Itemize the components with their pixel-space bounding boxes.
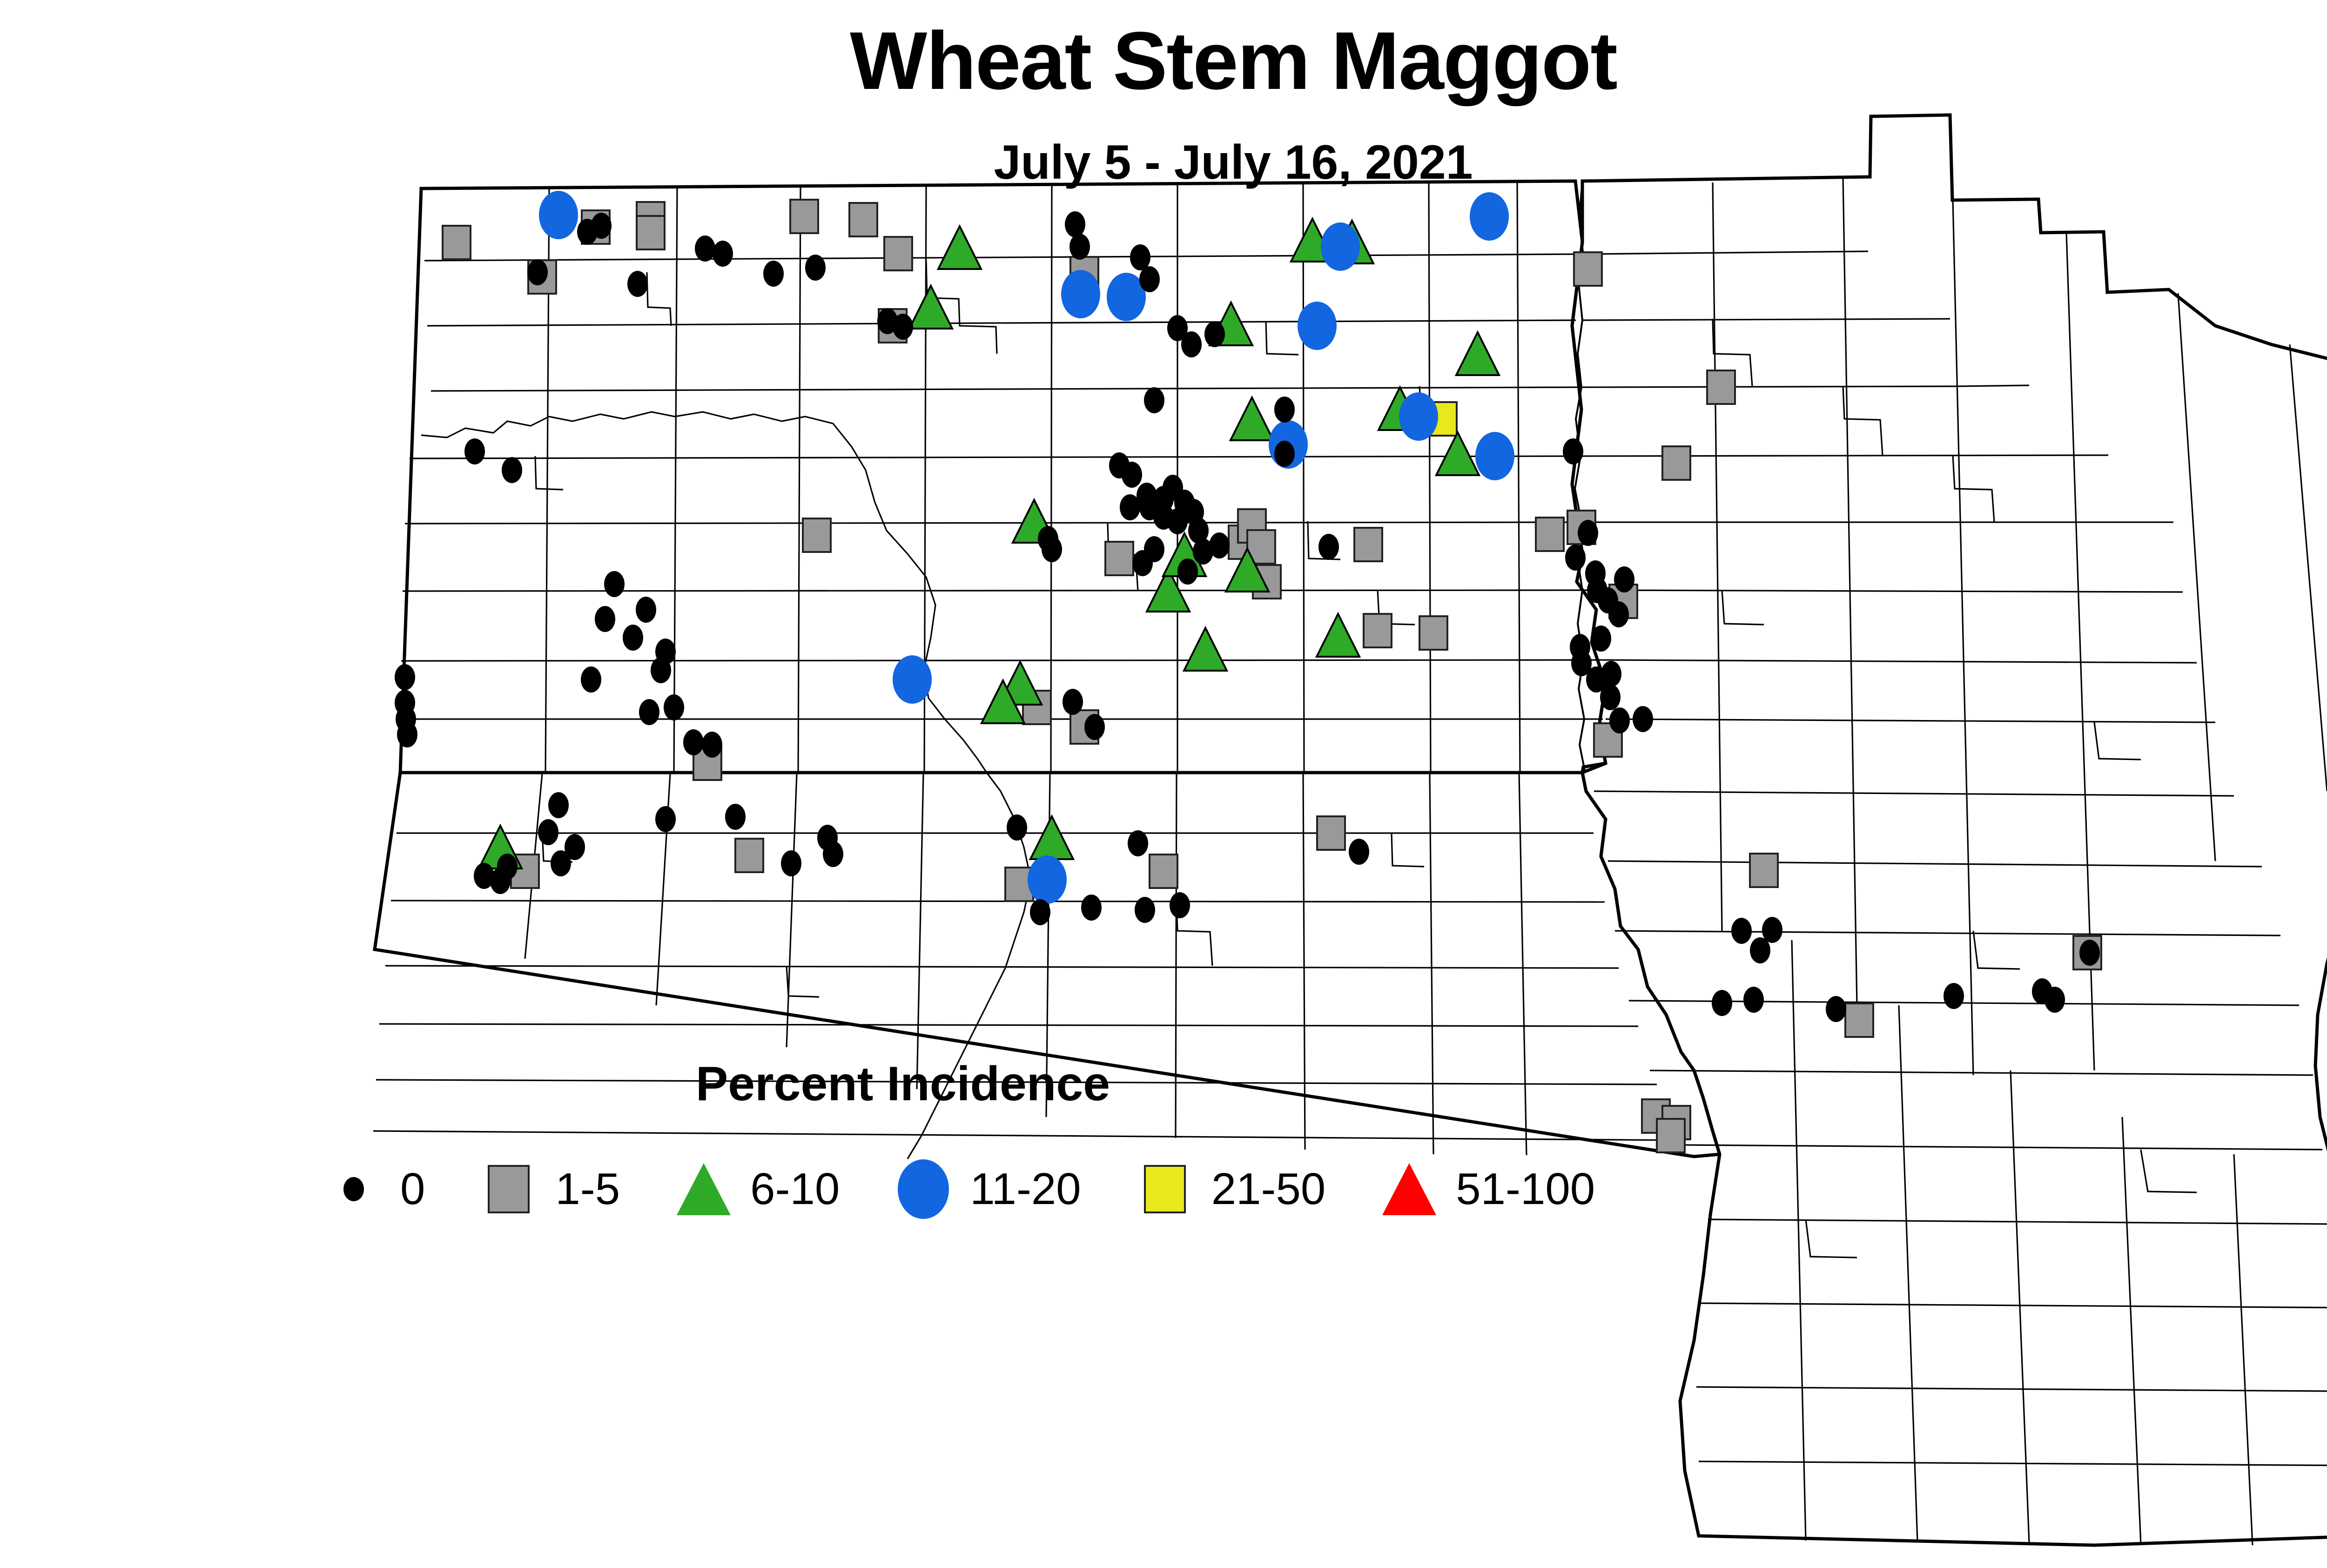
marker-incidence-0 [702, 732, 722, 758]
marker-incidence-0 [763, 261, 784, 287]
marker-incidence-0 [1122, 462, 1142, 488]
marker-incidence-0 [1274, 397, 1295, 423]
marker-incidence-0 [805, 255, 826, 281]
marker-incidence-1-5 [637, 216, 665, 249]
legend-item-11-20[interactable]: 11-20 [895, 1161, 1081, 1217]
legend-label-1-5: 1-5 [555, 1164, 620, 1215]
legend-item-0[interactable]: 0 [326, 1161, 425, 1217]
legend-label-21-50: 21-50 [1211, 1164, 1326, 1215]
marker-incidence-0 [527, 259, 548, 285]
page-title: Wheat Stem Maggot [0, 14, 2327, 108]
marker-incidence-0 [538, 819, 558, 845]
marker-incidence-0 [1128, 830, 1148, 856]
marker-incidence-1-5 [1662, 446, 1690, 480]
marker-incidence-1-5 [803, 518, 831, 552]
marker-incidence-0 [1135, 897, 1155, 923]
marker-incidence-0 [623, 625, 643, 651]
marker-incidence-0 [893, 314, 913, 340]
marker-incidence-0 [1750, 937, 1770, 963]
marker-incidence-0 [1181, 331, 1202, 357]
marker-incidence-0 [1170, 892, 1190, 918]
marker-incidence-0 [1069, 234, 1090, 260]
marker-incidence-1-5 [1845, 1003, 1873, 1037]
marker-incidence-0 [581, 666, 601, 693]
marker-incidence-1-5 [1150, 855, 1177, 888]
marker-incidence-11-20 [893, 655, 932, 704]
marker-incidence-0 [823, 841, 843, 867]
marker-incidence-0 [1608, 601, 1629, 627]
states-counties-map [0, 0, 2327, 1568]
marker-incidence-0 [1563, 438, 1583, 464]
legend-title: Percent Incidence [298, 1057, 1508, 1112]
marker-incidence-0 [502, 457, 522, 483]
marker-incidence-0 [1274, 441, 1295, 467]
marker-incidence-1-5 [1750, 854, 1778, 887]
marker-incidence-1-5 [1105, 542, 1133, 575]
marker-incidence-0 [683, 729, 704, 755]
marker-incidence-1-5 [1536, 518, 1564, 551]
marker-incidence-0 [1600, 684, 1621, 710]
legend-item-51-100[interactable]: 51-100 [1381, 1161, 1595, 1217]
marker-incidence-1-5 [1419, 616, 1447, 650]
marker-incidence-0 [1081, 895, 1102, 921]
marker-incidence-11-20 [1321, 222, 1360, 271]
marker-incidence-0 [604, 571, 625, 597]
marker-incidence-0 [1042, 536, 1062, 562]
marker-incidence-0 [591, 213, 612, 239]
marker-incidence-1-5 [735, 839, 763, 872]
green-triangle-icon [676, 1161, 732, 1217]
marker-incidence-0 [1318, 534, 1339, 560]
marker-incidence-0 [551, 850, 571, 876]
date-range-subtitle: July 5 - July 16, 2021 [0, 135, 2327, 190]
marker-incidence-0 [664, 694, 684, 720]
legend: Percent Incidence 0 1-5 6-10 11-20 21-50… [298, 1057, 1694, 1252]
legend-item-6-10[interactable]: 6-10 [676, 1161, 840, 1217]
marker-incidence-0 [725, 804, 746, 830]
marker-incidence-0 [639, 699, 659, 725]
marker-incidence-0 [595, 606, 615, 632]
marker-incidence-0 [1063, 689, 1083, 715]
legend-label-11-20: 11-20 [970, 1164, 1081, 1215]
marker-incidence-1-5 [790, 200, 818, 233]
marker-incidence-0 [464, 438, 485, 464]
marker-incidence-1-5 [1364, 614, 1392, 647]
marker-incidence-0 [1591, 626, 1611, 652]
legend-item-21-50[interactable]: 21-50 [1137, 1161, 1326, 1217]
marker-incidence-0 [397, 721, 417, 747]
dot-icon [326, 1161, 382, 1217]
marker-incidence-0 [1565, 545, 1586, 571]
marker-incidence-0 [713, 241, 733, 267]
marker-incidence-0 [1712, 990, 1732, 1016]
marker-incidence-0 [1084, 714, 1105, 740]
marker-incidence-0 [1209, 532, 1230, 559]
marker-incidence-11-20 [1028, 855, 1067, 904]
blue-circle-icon [895, 1161, 951, 1217]
marker-incidence-0 [1007, 814, 1027, 841]
gray-square-icon [481, 1161, 537, 1217]
marker-incidence-0 [1578, 520, 1598, 546]
marker-incidence-0 [1609, 707, 1630, 734]
marker-incidence-0 [1349, 839, 1369, 865]
marker-incidence-0 [1065, 211, 1085, 237]
legend-label-51-100: 51-100 [1456, 1164, 1595, 1215]
marker-incidence-0 [2079, 940, 2100, 966]
marker-incidence-0 [490, 868, 511, 894]
marker-incidence-11-20 [539, 191, 578, 239]
marker-incidence-0 [1144, 387, 1164, 413]
marker-incidence-0 [1177, 559, 1198, 585]
marker-incidence-0 [1130, 244, 1150, 270]
marker-incidence-0 [655, 806, 676, 832]
marker-incidence-1-5 [1317, 816, 1345, 850]
marker-incidence-0 [781, 850, 801, 876]
marker-incidence-11-20 [1061, 270, 1100, 318]
marker-incidence-0 [548, 792, 569, 818]
marker-incidence-0 [1944, 983, 1964, 1009]
marker-incidence-0 [2045, 987, 2065, 1013]
marker-incidence-0 [1139, 266, 1160, 292]
marker-incidence-11-20 [1470, 192, 1509, 241]
marker-incidence-0 [1030, 899, 1050, 925]
marker-incidence-0 [1826, 996, 1846, 1022]
marker-incidence-1-5 [884, 237, 912, 270]
legend-label-6-10: 6-10 [750, 1164, 840, 1215]
red-triangle-icon [1381, 1161, 1437, 1217]
marker-incidence-0 [636, 597, 656, 623]
marker-incidence-11-20 [1475, 432, 1514, 480]
marker-incidence-0 [695, 236, 715, 262]
legend-label-0: 0 [400, 1164, 425, 1215]
legend-items: 0 1-5 6-10 11-20 21-50 51-100 [326, 1143, 1675, 1236]
marker-incidence-0 [627, 271, 648, 297]
marker-incidence-0 [395, 664, 415, 690]
marker-incidence-1-5 [1354, 528, 1382, 561]
marker-incidence-0 [1204, 321, 1225, 347]
marker-incidence-11-20 [1298, 302, 1337, 350]
marker-incidence-0 [1601, 661, 1621, 687]
legend-item-1-5[interactable]: 1-5 [481, 1161, 620, 1217]
marker-incidence-0 [1633, 706, 1653, 732]
marker-incidence-0 [1731, 918, 1752, 944]
marker-incidence-0 [1132, 550, 1153, 576]
marker-incidence-1-5 [1707, 370, 1735, 404]
marker-incidence-1-5 [443, 226, 471, 259]
marker-incidence-1-5 [849, 203, 877, 236]
map-container [0, 0, 2327, 1568]
marker-incidence-1-5 [1574, 252, 1602, 286]
marker-incidence-0 [1743, 987, 1764, 1013]
marker-incidence-0 [1614, 566, 1634, 592]
yellow-square-icon [1137, 1161, 1193, 1217]
marker-incidence-0 [651, 657, 671, 683]
marker-incidence-11-20 [1399, 392, 1438, 441]
